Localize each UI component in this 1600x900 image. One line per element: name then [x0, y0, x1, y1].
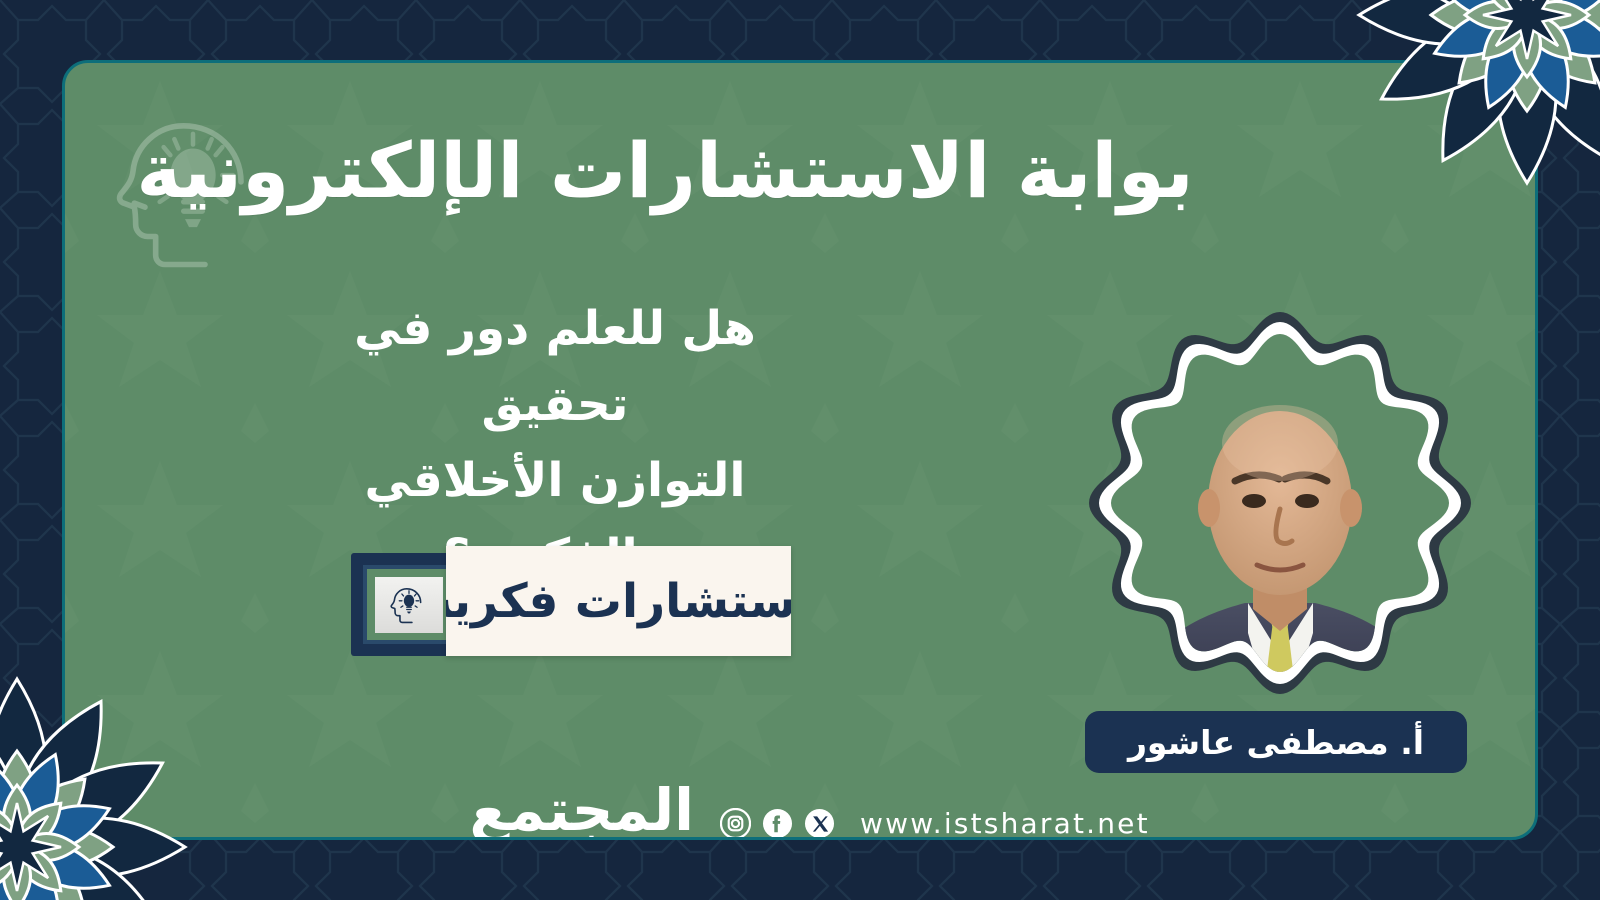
main-green-card: بوابة الاستشارات الإلكترونية هل للعلم دو… — [62, 60, 1538, 840]
floral-rosette-ornament-top-right — [1322, 0, 1600, 220]
instagram-icon[interactable] — [720, 808, 751, 839]
slide-canvas: بوابة الاستشارات الإلكترونية هل للعلم دو… — [0, 0, 1600, 900]
website-url[interactable]: www.istsharat.net — [860, 809, 1150, 840]
social-links — [720, 808, 835, 839]
portal-calligraphy-title: بوابة الاستشارات الإلكترونية — [65, 131, 1265, 211]
speaker-name-badge: أ. مصطفى عاشور — [1085, 711, 1467, 773]
head-lightbulb-icon — [375, 577, 443, 633]
x-twitter-icon[interactable] — [804, 808, 835, 839]
question-line-1: هل للعلم دور في تحقيق — [275, 291, 835, 443]
speaker-name: أ. مصطفى عاشور — [1128, 726, 1424, 759]
speaker-portrait — [1085, 303, 1475, 703]
facebook-icon[interactable] — [762, 808, 793, 839]
brand-logo: المجتمع — [549, 781, 694, 840]
banner-plate: استشارات فكرية — [446, 546, 791, 656]
consultation-banner: استشارات فكرية — [351, 546, 791, 656]
floral-rosette-ornament-bottom-left — [0, 642, 222, 900]
banner-plate-text: استشارات فكرية — [446, 578, 791, 625]
